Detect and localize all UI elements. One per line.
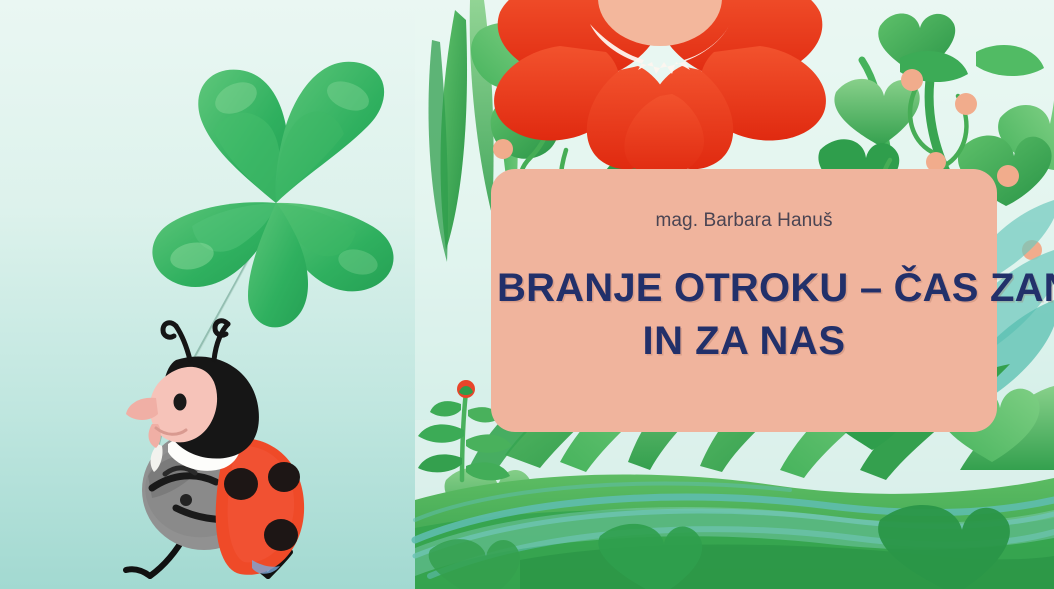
title-slide: mag. Barbara Hanuš BRANJE OTROKU – ČAS Z… — [0, 0, 1054, 589]
author-label: mag. Barbara Hanuš — [655, 211, 832, 230]
page-title: BRANJE OTROKU – ČAS ZANJ IN ZA NAS — [491, 262, 997, 368]
title-line-1: BRANJE OTROKU – ČAS ZANJ — [497, 262, 991, 315]
title-line-2: IN ZA NAS — [497, 315, 991, 368]
title-card: mag. Barbara Hanuš BRANJE OTROKU – ČAS Z… — [491, 169, 997, 432]
